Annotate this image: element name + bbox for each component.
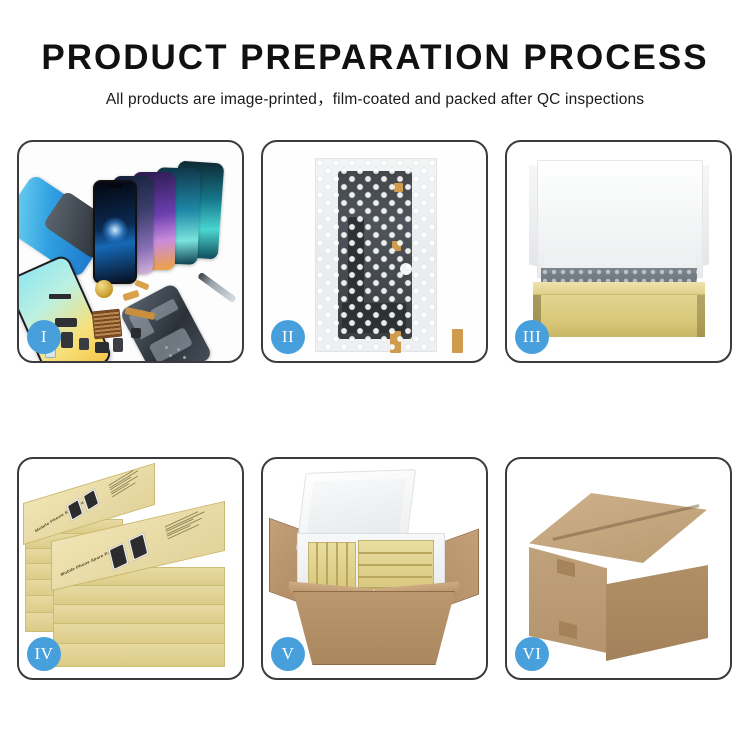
header: PRODUCT PREPARATION PROCESS All products… <box>0 0 750 109</box>
camera-module-icon <box>95 342 109 353</box>
process-grid: I II <box>17 140 733 680</box>
white-foam-lid-icon <box>537 160 703 278</box>
tape-piece-4-icon <box>452 329 463 353</box>
phone-notch-icon <box>107 184 123 188</box>
carton-side-face-icon <box>606 565 708 661</box>
step-badge-5: V <box>271 637 305 671</box>
page-subtitle: All products are image-printed，film-coat… <box>0 87 750 109</box>
page-title: PRODUCT PREPARATION PROCESS <box>0 40 750 77</box>
phone-screen-1-icon <box>93 180 137 284</box>
process-step-panel-2: II <box>261 140 488 363</box>
step-badge-1: I <box>27 320 61 354</box>
flex-cable-1-icon <box>49 294 71 299</box>
process-step-panel-4: Mobile Phone Spare Parts Mobile Phone <box>17 457 244 680</box>
copper-shield-chip-icon <box>92 309 123 340</box>
kraft-tray-box-icon <box>533 294 705 337</box>
step-badge-2: II <box>271 320 305 354</box>
process-step-panel-3: III <box>505 140 732 363</box>
connector-3-icon <box>79 338 89 350</box>
connector-4-icon <box>113 338 123 352</box>
process-step-panel-5: V <box>261 457 488 680</box>
cardboard-carton-icon <box>293 591 455 665</box>
phone-fan-group <box>89 162 239 292</box>
step-badge-6: VI <box>515 637 549 671</box>
connector-1-icon <box>55 318 77 327</box>
process-step-panel-6: VI <box>505 457 732 680</box>
chip-icon <box>131 328 141 338</box>
bubble-texture <box>316 159 436 351</box>
connector-2-icon <box>61 332 73 348</box>
bubble-wrap-bag-icon <box>315 158 437 352</box>
product-preparation-infographic: PRODUCT PREPARATION PROCESS All products… <box>0 0 750 750</box>
step-badge-3: III <box>515 320 549 354</box>
step-badge-4: IV <box>27 637 61 671</box>
carton-top-face-icon <box>529 493 707 563</box>
process-step-panel-1: I <box>17 140 244 363</box>
speaker-module-icon <box>95 280 113 298</box>
